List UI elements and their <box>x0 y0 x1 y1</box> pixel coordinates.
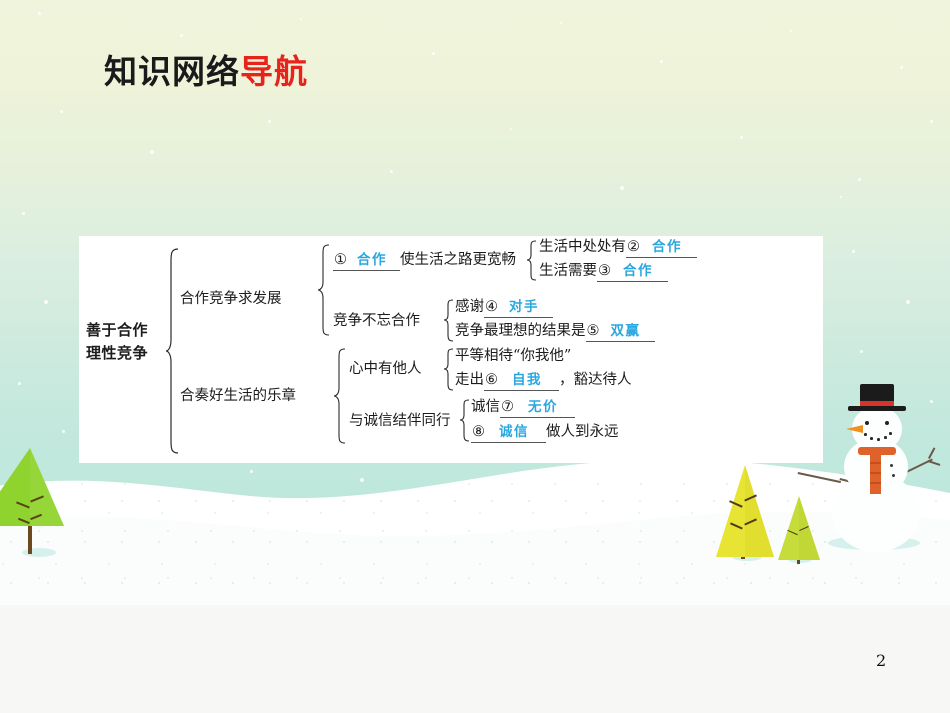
blank-4-answer: 对手 <box>498 299 550 315</box>
mindmap-b1s2-item-0: 感谢④对手 <box>455 298 553 318</box>
mindmap-b2s1-item-0: 平等相待“你我他” <box>455 347 571 365</box>
b1s2-item0-before: 感谢 <box>455 299 484 315</box>
brace-branch2 <box>333 348 346 444</box>
b1s1-item1-before: 生活需要 <box>539 263 597 279</box>
mindmap-b2s1-item-1: 走出⑥自我，豁达待人 <box>455 371 632 391</box>
mindmap-b1s1-suffix: 使生活之路更宽畅 <box>400 252 516 268</box>
brace-b2s2 <box>459 399 470 443</box>
blank-7-answer: 无价 <box>514 399 572 415</box>
mindmap-b1s1-item-1: 生活需要③合作 <box>539 262 668 282</box>
tree-green-left <box>0 448 64 568</box>
brace-b2s1 <box>443 348 454 392</box>
blank-3-answer: 合作 <box>611 263 665 279</box>
blank-8-wrap: ⑧诚信 <box>471 423 546 443</box>
snowman <box>812 392 942 552</box>
mindmap-b2s2-label: 与诚信结伴同行 <box>349 412 451 430</box>
mindmap-root-line1: 善于合作 <box>86 321 148 339</box>
brace-b1s2 <box>443 299 454 343</box>
blank-3-wrap: ③合作 <box>597 262 668 282</box>
blank-5-number: ⑤ <box>587 323 600 339</box>
blank-3-number: ③ <box>598 263 611 279</box>
b1s1-item0-before: 生活中处处有 <box>539 239 626 255</box>
mindmap-b1s2-label: 竞争不忘合作 <box>333 312 420 330</box>
blank-5-answer: 双赢 <box>600 323 652 339</box>
mindmap-b1s2-item-1: 竞争最理想的结果是⑤双赢 <box>455 322 655 342</box>
mindmap-card: 善于合作 理性竞争 合作竞争求发展 合奏好生活的乐章 ①合作 <box>79 236 823 463</box>
blank-1-wrap: ①合作 <box>333 251 400 271</box>
mindmap-b1s1-line: ①合作 使生活之路更宽畅 <box>333 251 516 271</box>
blank-7-number: ⑦ <box>501 399 514 415</box>
blank-4-number: ④ <box>485 299 498 315</box>
b2s1-item1-after: ，豁达待人 <box>559 372 632 388</box>
blank-6-number: ⑥ <box>485 372 498 388</box>
brace-b1s1 <box>526 240 537 282</box>
blank-8-number: ⑧ <box>472 424 485 440</box>
brace-root <box>165 248 179 454</box>
b2s2-item1-after: 做人到永远 <box>546 424 619 440</box>
tree-yellow-mid <box>710 455 780 570</box>
mindmap-branch2-label: 合奏好生活的乐章 <box>180 387 296 405</box>
page-title-red: 导航 <box>240 52 308 91</box>
brace-branch1 <box>317 244 330 336</box>
mindmap-b1s1-item-0: 生活中处处有②合作 <box>539 238 697 258</box>
blank-2-number: ② <box>627 239 640 255</box>
blank-1-number: ① <box>334 252 347 268</box>
blank-7-wrap: ⑦无价 <box>500 398 575 418</box>
blank-6-wrap: ⑥自我 <box>484 371 559 391</box>
mindmap-root-line2: 理性竞争 <box>86 344 148 362</box>
blank-6-answer: 自我 <box>498 372 556 388</box>
mindmap-branch1-label: 合作竞争求发展 <box>180 290 282 308</box>
blank-1-answer: 合作 <box>347 252 397 268</box>
blank-4-wrap: ④对手 <box>484 298 553 318</box>
b2s2-item0-before: 诚信 <box>471 399 500 415</box>
blank-2-answer: 合作 <box>640 239 694 255</box>
mindmap-b2s1-label: 心中有他人 <box>349 360 422 378</box>
blank-8-answer: 诚信 <box>485 424 543 440</box>
blank-5-wrap: ⑤双赢 <box>586 322 655 342</box>
blank-2-wrap: ②合作 <box>626 238 697 258</box>
page-number: 2 <box>876 651 886 670</box>
b1s2-item1-before: 竞争最理想的结果是 <box>455 323 586 339</box>
mindmap-b2s2-item-0: 诚信⑦无价 <box>471 398 575 418</box>
b2s1-item1-before: 走出 <box>455 372 484 388</box>
page-title: 知识网络导航 <box>104 52 308 92</box>
slide-canvas: 知识网络导航 善于合作 理性竞争 合作竞争求发展 合奏好生活的乐章 <box>0 0 950 605</box>
mindmap-b2s2-item-1: ⑧诚信做人到永远 <box>471 423 619 443</box>
page-title-black: 知识网络 <box>104 52 240 91</box>
